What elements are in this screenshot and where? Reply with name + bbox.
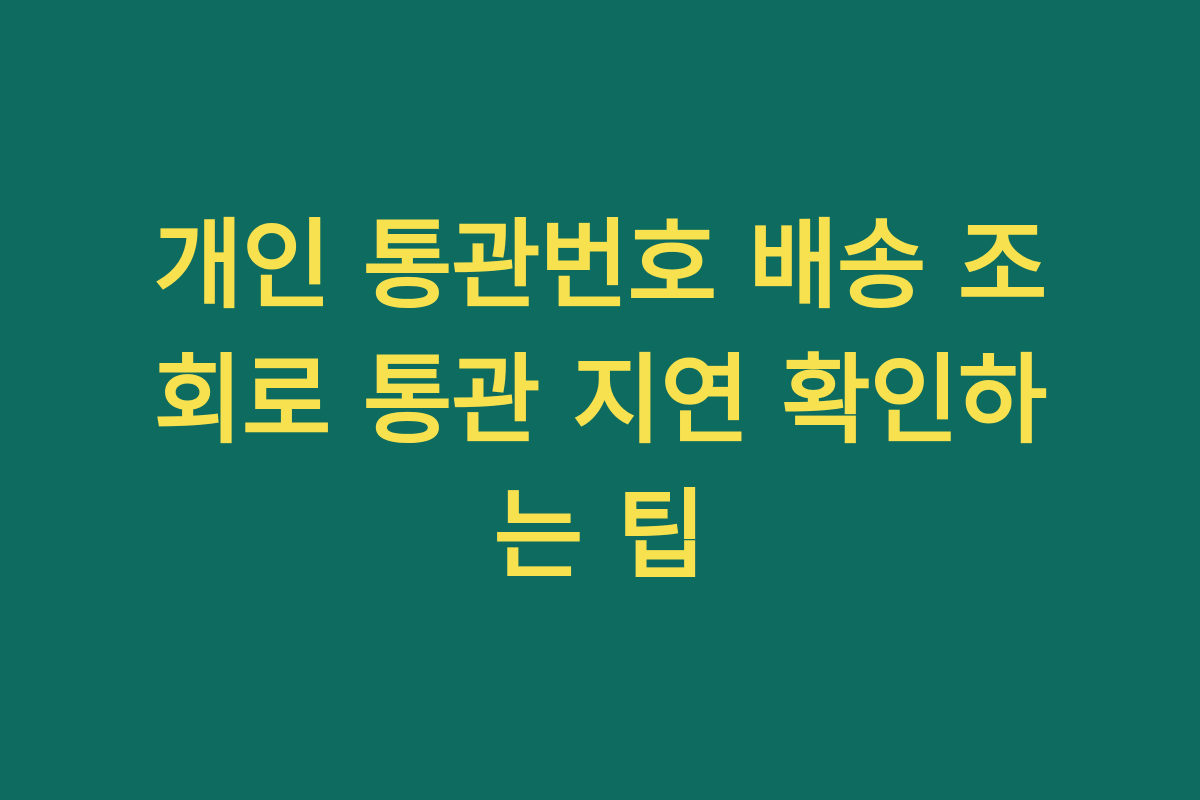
title-banner: 개인 통관번호 배송 조 회로 통관 지연 확인하 는 팁 bbox=[0, 0, 1200, 800]
title-line-3: 는 팁 bbox=[120, 468, 1080, 603]
title-line-2: 회로 통관 지연 확인하 bbox=[120, 333, 1080, 468]
title-line-1: 개인 통관번호 배송 조 bbox=[120, 198, 1080, 333]
page-title: 개인 통관번호 배송 조 회로 통관 지연 확인하 는 팁 bbox=[100, 198, 1100, 603]
